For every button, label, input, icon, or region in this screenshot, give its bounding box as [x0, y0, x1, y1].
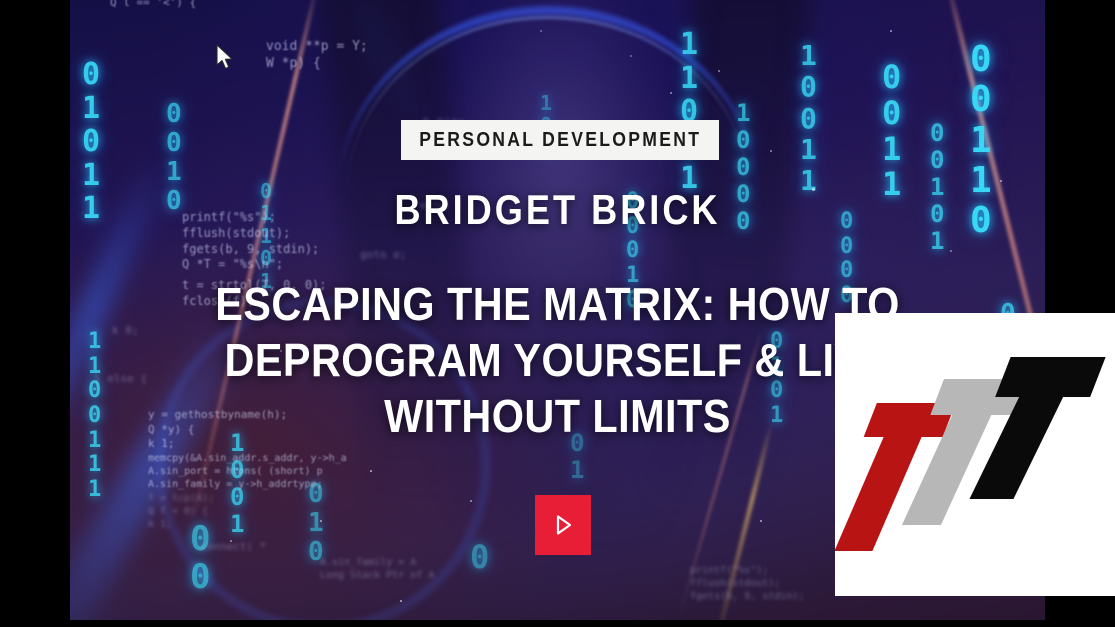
binary-column: 0 1 0 1: [770, 330, 784, 429]
binary-column: 0 0 1 1: [882, 60, 902, 203]
background-code-text: memcpy(&A.sin_addr.s_addr, y->h_a A.sin_…: [148, 452, 347, 492]
play-triangle-icon: [550, 512, 576, 538]
binary-column: 0 0 0 0: [840, 210, 854, 309]
background-code-text: printf("%s"); fflush(stdout); fgets(b, 9…: [182, 210, 319, 273]
star-speck: [470, 500, 472, 502]
background-code-text: t = strtol(T, 0, 0); fclose(f);: [182, 278, 327, 310]
binary-column: 0 1 0 1 1: [82, 58, 101, 226]
binary-column: 0 0 0 1 0: [626, 190, 640, 313]
star-speck: [230, 540, 232, 542]
play-button[interactable]: [535, 495, 591, 555]
background-code-text: k 0;: [112, 324, 139, 339]
binary-column: 1 0 0 1 1: [800, 40, 818, 197]
star-speck: [400, 600, 402, 602]
binary-column: 0 0 1 0: [166, 100, 183, 216]
star-speck: [1000, 180, 1002, 182]
star-speck: [812, 188, 815, 191]
star-speck: [710, 400, 712, 402]
binary-column: 0 1: [570, 430, 585, 484]
star-speck: [718, 70, 720, 72]
star-speck: [320, 520, 322, 522]
background-code-text: Q l == '<') {: [110, 0, 196, 11]
binary-column: 0 0 1 1 0: [970, 40, 993, 242]
background-code-text: printf("%s"); fflush(stdout); fgets(b, 9…: [690, 564, 804, 604]
binary-column: 1 1 0 0 1 1 1: [88, 330, 102, 502]
background-code-text: connect( *: [200, 540, 266, 555]
binary-column: 1 1 0 0 1: [680, 28, 699, 196]
star-speck: [370, 470, 372, 472]
star-speck: [540, 30, 542, 32]
background-code-text: } else {: [94, 372, 147, 387]
letterbox-bar-left: [0, 0, 70, 627]
binary-column: 1 0 0 0 0: [736, 100, 751, 234]
video-player[interactable]: 0 1 0 1 11 1 0 0 1 1 10 0 1 01 0 0 10 1 …: [0, 0, 1115, 627]
background-code-text: goto e;: [360, 248, 406, 263]
binary-column: 0 1 0: [308, 480, 325, 567]
star-speck: [630, 55, 632, 57]
star-speck: [760, 520, 762, 522]
background-code-text: A.sin_family = A Long Stack Ptr of A: [320, 556, 434, 582]
star-speck: [280, 350, 282, 352]
letterbox-bar-bottom: [0, 620, 1115, 627]
category-badge: PERSONAL DEVELOPMENT: [401, 120, 719, 160]
star-speck: [890, 30, 892, 32]
ttt-logo: [835, 313, 1115, 596]
logo-letter-t-black: [969, 357, 1105, 499]
category-label: PERSONAL DEVELOPMENT: [419, 129, 701, 152]
binary-column: 0 0 1 0 1: [930, 120, 945, 254]
star-speck: [670, 92, 672, 94]
star-speck: [950, 250, 952, 252]
background-code-text: void **p = Y; W *p) {: [266, 38, 368, 72]
star-speck: [770, 150, 772, 152]
background-code-text: W *p) {: [420, 200, 462, 213]
background-code-text: y = gethostbyname(h); Q *y) { k 1;: [148, 408, 287, 452]
binary-column: 0: [470, 540, 490, 576]
ttt-logo-card[interactable]: [835, 313, 1115, 596]
background-code-text: f = tcp(A); Q f < 0) { k 1;: [148, 492, 214, 532]
